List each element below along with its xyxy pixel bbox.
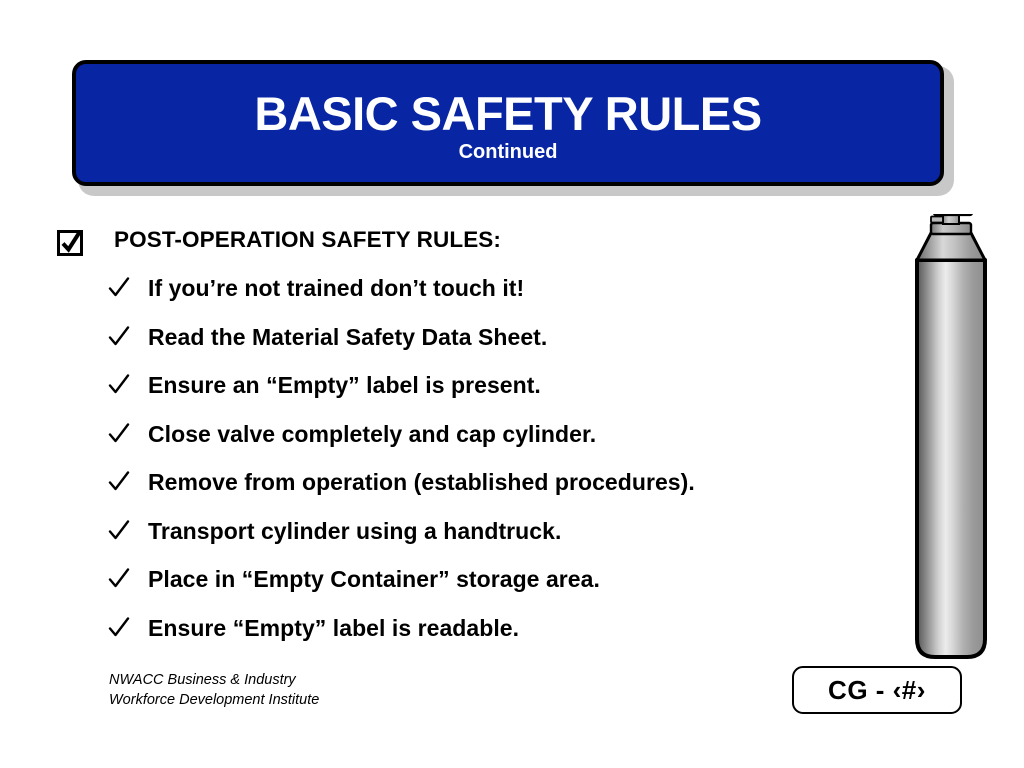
list-item: Close valve completely and cap cylinder.: [0, 416, 910, 465]
slide-canvas: BASIC SAFETY RULES Continued POST-OPERAT…: [0, 0, 1024, 768]
page-subtitle: Continued: [459, 142, 558, 162]
check-mark-icon: [108, 519, 130, 543]
footer-attribution: NWACC Business & Industry Workforce Deve…: [109, 670, 319, 710]
safety-rules-list: If you’re not trained don’t touch it! Re…: [0, 270, 910, 658]
page-title: BASIC SAFETY RULES: [254, 90, 761, 138]
section-heading-label: POST-OPERATION SAFETY RULES:: [114, 225, 501, 255]
list-item: If you’re not trained don’t touch it!: [0, 270, 910, 319]
check-mark-icon: [108, 616, 130, 640]
check-mark-icon: [108, 422, 130, 446]
list-item-label: Remove from operation (established proce…: [148, 464, 695, 500]
section-heading-row: POST-OPERATION SAFETY RULES:: [0, 225, 910, 258]
list-item: Ensure an “Empty” label is present.: [0, 367, 910, 416]
footer-line-2: Workforce Development Institute: [109, 690, 319, 710]
list-item-label: If you’re not trained don’t touch it!: [148, 270, 524, 306]
list-item: Transport cylinder using a handtruck.: [0, 513, 910, 562]
ballot-box-with-check-icon: [56, 228, 86, 258]
slide-number-badge: CG - ‹#›: [792, 666, 962, 714]
gas-cylinder-illustration: [905, 214, 997, 662]
content-area: POST-OPERATION SAFETY RULES: If you’re n…: [0, 225, 910, 658]
check-mark-icon: [108, 567, 130, 591]
list-item-label: Read the Material Safety Data Sheet.: [148, 319, 547, 355]
check-mark-icon: [108, 470, 130, 494]
list-item-label: Ensure an “Empty” label is present.: [148, 367, 541, 403]
list-item: Ensure “Empty” label is readable.: [0, 610, 910, 659]
list-item-label: Ensure “Empty” label is readable.: [148, 610, 519, 646]
list-item-label: Close valve completely and cap cylinder.: [148, 416, 596, 452]
check-mark-icon: [108, 325, 130, 349]
slide-number-label: CG - ‹#›: [828, 675, 926, 706]
check-mark-icon: [108, 373, 130, 397]
list-item: Place in “Empty Container” storage area.: [0, 561, 910, 610]
title-banner: BASIC SAFETY RULES Continued: [72, 60, 944, 186]
footer-line-1: NWACC Business & Industry: [109, 670, 319, 690]
list-item-label: Transport cylinder using a handtruck.: [148, 513, 561, 549]
list-item-label: Place in “Empty Container” storage area.: [148, 561, 600, 597]
check-mark-icon: [108, 276, 130, 300]
list-item: Read the Material Safety Data Sheet.: [0, 319, 910, 368]
list-item: Remove from operation (established proce…: [0, 464, 910, 513]
